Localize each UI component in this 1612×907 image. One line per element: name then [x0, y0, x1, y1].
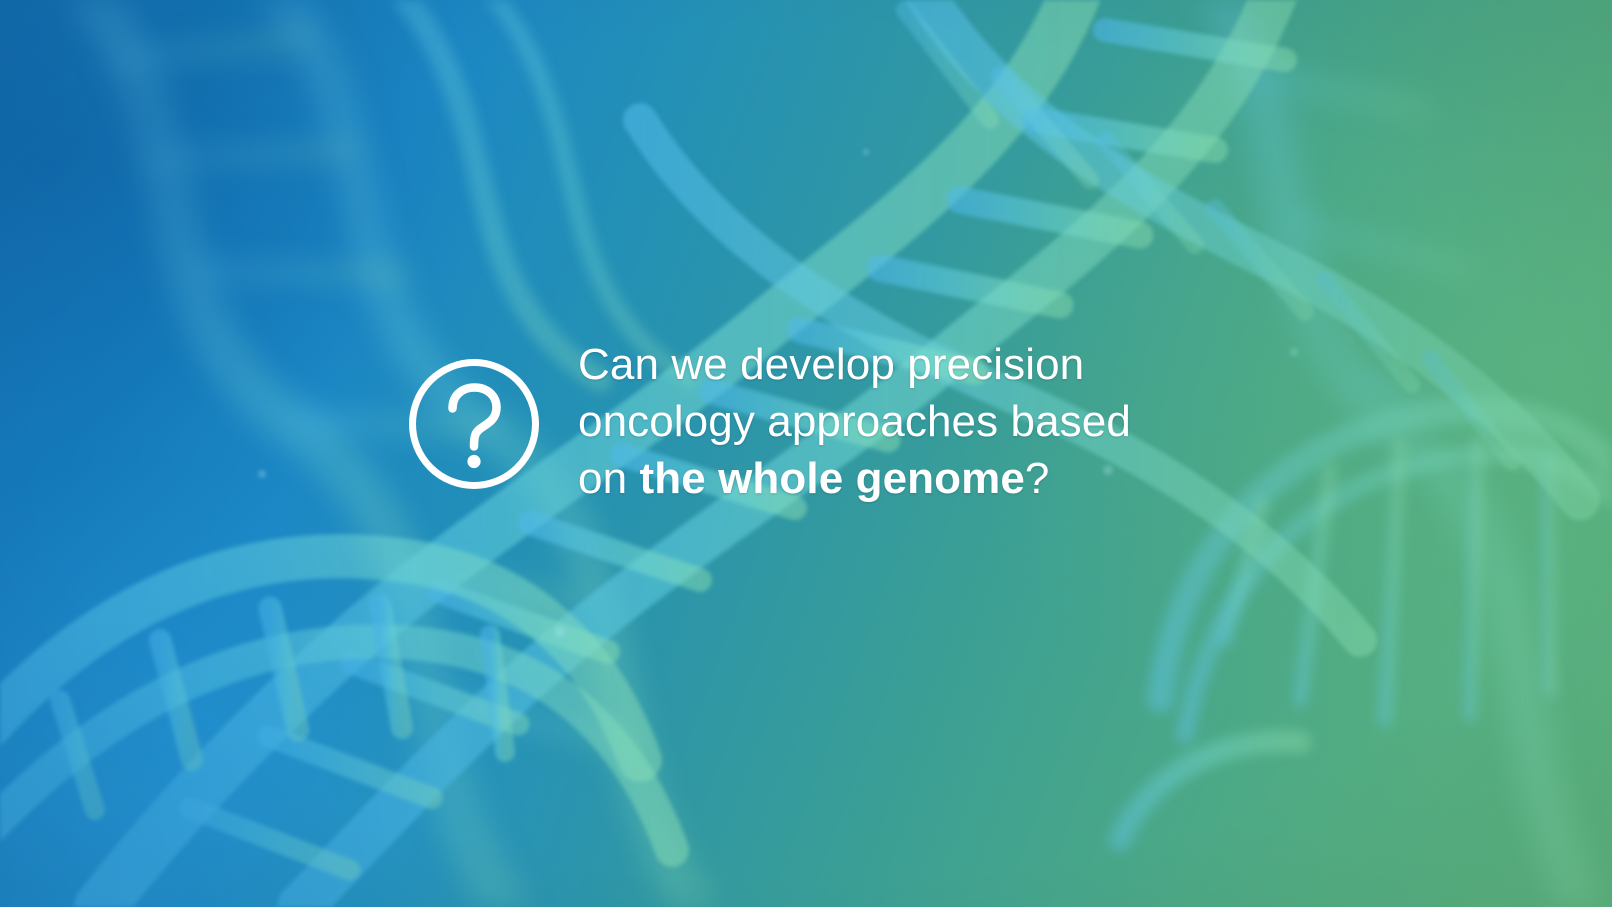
headline-line-3: on the whole genome? — [578, 450, 1131, 507]
headline-accent-whole-genome: the whole genome — [639, 454, 1024, 503]
question-mark-circle-icon — [408, 358, 540, 490]
headline-line-2: oncology approaches based — [578, 393, 1131, 450]
headline-line-3-prefix: on — [578, 454, 639, 503]
headline-line-1: Can we develop precision — [578, 336, 1131, 393]
hero-content: Can we develop precision oncology approa… — [406, 336, 1131, 507]
headline: Can we develop precision oncology approa… — [578, 336, 1131, 507]
headline-line-3-suffix: ? — [1025, 454, 1050, 503]
hero-banner: Can we develop precision oncology approa… — [0, 0, 1612, 907]
